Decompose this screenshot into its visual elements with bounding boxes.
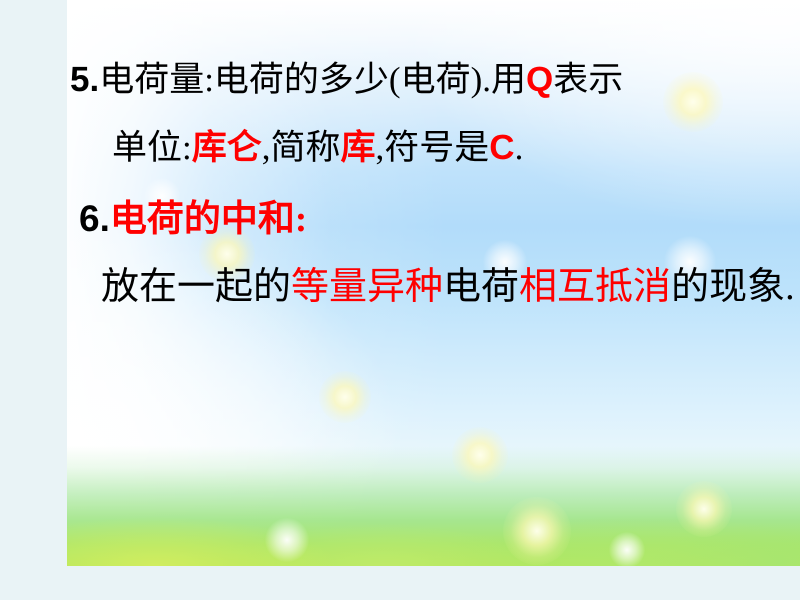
- text-segment: 相互抵消: [519, 266, 671, 308]
- text-segment: 用: [491, 60, 526, 99]
- text-segment: 放在一起的: [101, 266, 291, 308]
- slide-text-layer: 5.电荷量:电荷的多少(电荷).用Q表示 单位:库仑,简称库,符号是C. 6.电…: [67, 0, 800, 566]
- text-segment: Q: [526, 60, 553, 99]
- text-segment: ,符号是: [376, 128, 490, 167]
- slide-content-panel: 5.电荷量:电荷的多少(电荷).用Q表示 单位:库仑,简称库,符号是C. 6.电…: [67, 0, 800, 566]
- text-segment: ,简称: [262, 128, 341, 167]
- slide-text-line-2: 单位:库仑,简称库,符号是C.: [112, 130, 523, 165]
- text-segment: .: [515, 128, 524, 167]
- text-segment: C: [489, 128, 514, 167]
- text-segment: 电荷: [443, 266, 519, 308]
- text-segment: 等量异种: [291, 266, 443, 308]
- slide-text-line-1: 5.电荷量:电荷的多少(电荷).用Q表示: [70, 62, 623, 97]
- text-segment: 单位:: [112, 128, 192, 167]
- text-segment: 5.: [70, 60, 99, 99]
- text-segment: 6.: [79, 198, 110, 239]
- slide-text-line-4: 放在一起的等量异种电荷相互抵消的现象.: [101, 268, 795, 306]
- slide-text-line-3: 6.电荷的中和:: [79, 200, 307, 238]
- text-segment: 的现象.: [671, 266, 795, 308]
- slide-screenshot: 5.电荷量:电荷的多少(电荷).用Q表示 单位:库仑,简称库,符号是C. 6.电…: [0, 0, 800, 600]
- text-segment: 表示: [553, 60, 623, 99]
- text-segment: 库仑: [192, 128, 262, 167]
- text-segment: 电荷量:电荷的多少(电荷).: [99, 60, 491, 99]
- text-segment: 电荷的中和:: [110, 199, 307, 240]
- text-segment: 库: [341, 128, 376, 167]
